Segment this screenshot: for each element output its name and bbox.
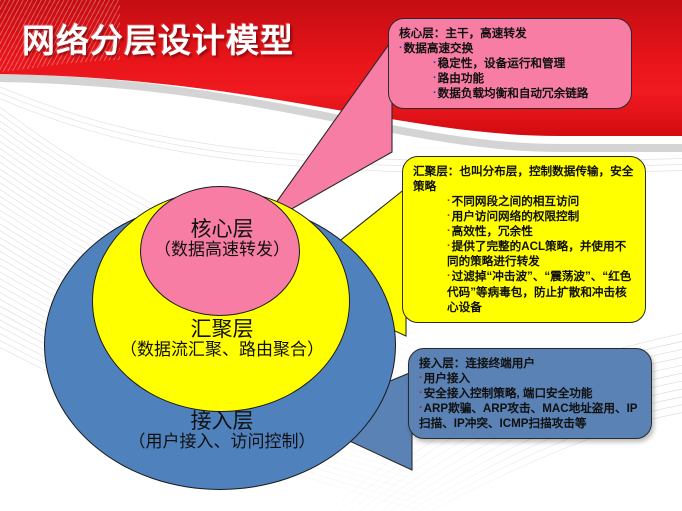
layer-diagram: 核心层 （数据高速转发） 汇聚层 （数据流汇聚、路由聚合） 接入层 （用户接入、… xyxy=(0,170,420,511)
bullet-icon: · xyxy=(399,42,403,54)
core-layer-label: 核心层 （数据高速转发） xyxy=(148,218,296,259)
slide-canvas: 网络分层设计模型 核心层 （数据高速转发） 汇聚层 （数据流汇聚、路由聚合） 接… xyxy=(0,0,682,511)
callout-bullet-item: ·高效性，冗余性 xyxy=(447,224,636,239)
distribution-layer-label: 汇聚层 （数据流汇聚、路由聚合） xyxy=(100,318,344,359)
callout-bullet-item: ·过滤掉“冲击波”、“震荡波”、“红色代码”等病毒包，防止扩散和冲击核心设备 xyxy=(447,269,636,314)
access-layer-subtitle: （用户接入、访问控制） xyxy=(92,433,352,451)
callout-bullet-text: 用户访问网络的权限控制 xyxy=(452,210,580,223)
bullet-icon: · xyxy=(419,372,423,384)
callout-bullet-item: ·不同网段之间的相互访问 xyxy=(447,194,636,209)
access-callout-list: ·用户接入·安全接入控制策略, 端口安全功能·ARP欺骗、ARP攻击、MAC地址… xyxy=(419,371,642,431)
distribution-layer-callout[interactable]: 汇聚层：也叫分布层，控制数据传输，安全策略 ·不同网段之间的相互访问·用户访问网… xyxy=(402,156,646,323)
callout-bullet-text: 高效性，冗余性 xyxy=(452,225,533,238)
callout-bullet-item: ·提供了完整的ACL策略，并使用不同的策略进行转发 xyxy=(447,239,636,269)
callout-bullet-text: 不同网段之间的相互访问 xyxy=(452,195,580,208)
core-layer-subtitle: （数据高速转发） xyxy=(148,241,296,259)
bullet-icon: · xyxy=(447,195,451,207)
callout-bullet-item: ·数据负载均衡和自动冗余链路 xyxy=(433,86,622,101)
callout-bullet-item: ·稳定性，设备运行和管理 xyxy=(433,56,622,71)
access-callout-heading: 接入层：连接终端用户 xyxy=(419,356,642,371)
bullet-icon: · xyxy=(447,270,451,282)
callout-bullet-text: 稳定性，设备运行和管理 xyxy=(438,57,566,70)
core-callout-list: ·数据高速交换·稳定性，设备运行和管理·路由功能·数据负载均衡和自动冗余链路 xyxy=(399,41,622,101)
callout-bullet-text: 数据负载均衡和自动冗余链路 xyxy=(438,87,589,100)
bullet-icon: · xyxy=(433,72,437,84)
callout-bullet-item: ·安全接入控制策略, 端口安全功能 xyxy=(419,386,642,401)
callout-bullet-text: 提供了完整的ACL策略，并使用不同的策略进行转发 xyxy=(447,240,626,268)
bullet-icon: · xyxy=(447,240,451,252)
callout-bullet-text: 路由功能 xyxy=(438,72,484,85)
bullet-icon: · xyxy=(447,225,451,237)
core-callout-heading: 核心层：主干，高速转发 xyxy=(399,26,622,41)
callout-bullet-item: ·用户接入 xyxy=(419,371,642,386)
bullet-icon: · xyxy=(419,387,423,399)
distribution-callout-heading: 汇聚层：也叫分布层，控制数据传输，安全策略 xyxy=(413,164,636,194)
access-layer-label: 接入层 （用户接入、访问控制） xyxy=(92,410,352,451)
distribution-callout-list: ·不同网段之间的相互访问·用户访问网络的权限控制·高效性，冗余性·提供了完整的A… xyxy=(413,194,636,315)
access-layer-name: 接入层 xyxy=(92,410,352,433)
bullet-icon: · xyxy=(433,87,437,99)
access-layer-callout[interactable]: 接入层：连接终端用户 ·用户接入·安全接入控制策略, 端口安全功能·ARP欺骗、… xyxy=(408,348,652,439)
bullet-icon: · xyxy=(433,57,437,69)
core-layer-callout[interactable]: 核心层：主干，高速转发 ·数据高速交换·稳定性，设备运行和管理·路由功能·数据负… xyxy=(388,18,632,109)
core-layer-name: 核心层 xyxy=(148,218,296,241)
callout-bullet-item: ·ARP欺骗、ARP攻击、MAC地址盗用、IP扫描、IP冲突、ICMP扫描攻击等 xyxy=(419,401,642,431)
callout-bullet-text: ARP欺骗、ARP攻击、MAC地址盗用、IP扫描、IP冲突、ICMP扫描攻击等 xyxy=(419,402,638,430)
callout-bullet-item: ·数据高速交换 xyxy=(399,41,622,56)
callout-bullet-text: 用户接入 xyxy=(424,372,470,385)
distribution-layer-name: 汇聚层 xyxy=(100,318,344,341)
bullet-icon: · xyxy=(419,402,423,414)
bullet-icon: · xyxy=(447,210,451,222)
callout-bullet-text: 安全接入控制策略, 端口安全功能 xyxy=(424,387,593,400)
distribution-layer-subtitle: （数据流汇聚、路由聚合） xyxy=(100,341,344,359)
callout-bullet-item: ·用户访问网络的权限控制 xyxy=(447,209,636,224)
callout-bullet-item: ·路由功能 xyxy=(433,71,622,86)
callout-bullet-text: 过滤掉“冲击波”、“震荡波”、“红色代码”等病毒包，防止扩散和冲击核心设备 xyxy=(447,270,631,313)
callout-bullet-text: 数据高速交换 xyxy=(404,42,474,55)
